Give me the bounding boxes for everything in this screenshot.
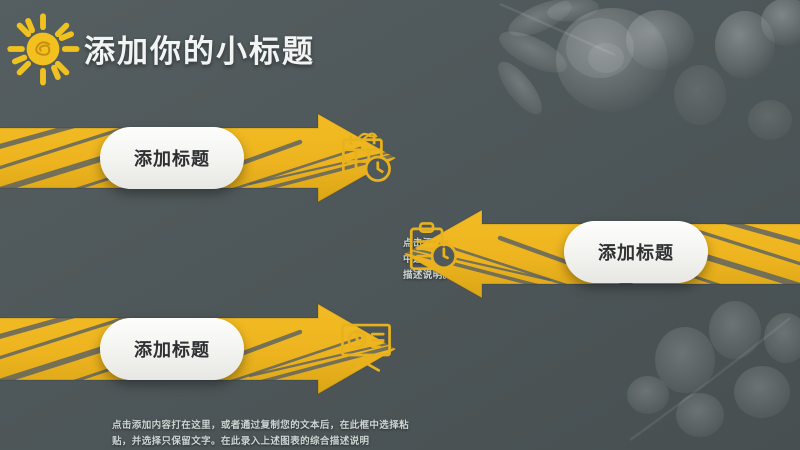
pill-label-2[interactable]: 添加标题 — [564, 221, 708, 283]
content-row-1: 添加标题 点击添加内容打在这里，或者通过复制您的文本后，在此框中选择粘贴，并选择… — [0, 112, 800, 204]
pill-text: 添加标题 — [134, 145, 210, 171]
slide-header: 添加你的小标题 — [0, 0, 800, 96]
content-row-3: 添加标题 点击添加内容打在这里，或者通过复制您的文本后，在此框中选择粘贴，并选择… — [0, 302, 800, 396]
pill-label-1[interactable]: 添加标题 — [100, 127, 244, 189]
pill-label-3[interactable]: 添加标题 — [100, 318, 244, 380]
body-text-2: 点击添加内容打在这里，或者通过复制您的文本后，在此框中选择粘贴，并选择只保留文字… — [112, 418, 412, 450]
sun-icon — [4, 10, 82, 88]
calendar-clock-icon — [337, 128, 395, 186]
pill-text: 添加标题 — [598, 239, 674, 265]
content-row-2: 添加标题 点击添加内容打在这里，或者通过复制您的文本后，在此框中选择粘贴，并选择… — [0, 204, 800, 300]
presentation-chart-icon — [337, 316, 395, 374]
pill-text: 添加标题 — [134, 336, 210, 362]
clipboard-stopwatch-icon — [404, 218, 462, 276]
page-title: 添加你的小标题 — [84, 26, 315, 71]
